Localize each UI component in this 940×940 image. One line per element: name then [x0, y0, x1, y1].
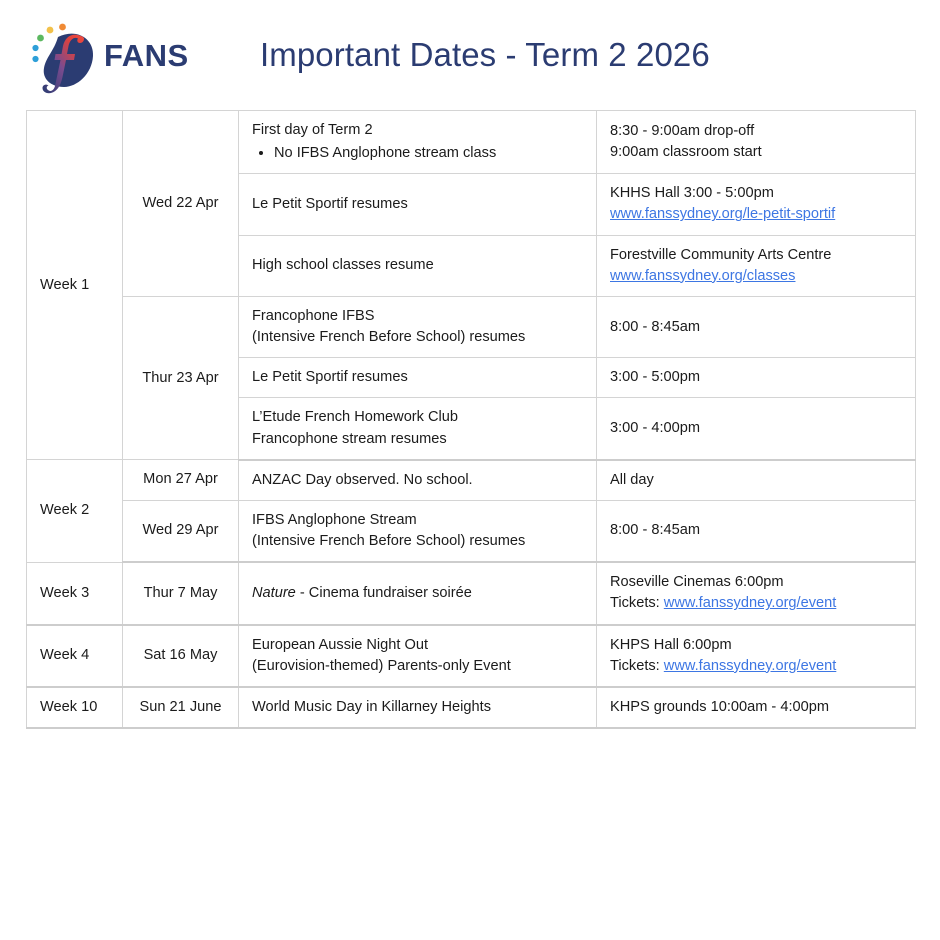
- details-text: All day: [610, 470, 902, 491]
- event-cell: IFBS Anglophone Stream(Intensive French …: [239, 500, 597, 562]
- event-bullet-list: No IFBS Anglophone stream class: [252, 143, 583, 164]
- event-cell: First day of Term 2No IFBS Anglophone st…: [239, 111, 597, 174]
- table-row: Week 1Wed 22 AprFirst day of Term 2No IF…: [27, 111, 916, 174]
- date-cell: Wed 22 Apr: [123, 111, 239, 297]
- brand-logo: FANS: [24, 16, 224, 94]
- details-text: 3:00 - 5:00pm: [610, 367, 902, 388]
- date-cell: Wed 29 Apr: [123, 500, 239, 562]
- details-link-line: Tickets: www.fanssydney.org/event: [610, 593, 902, 614]
- details-link[interactable]: www.fanssydney.org/event: [664, 658, 837, 674]
- event-text: ANZAC Day observed. No school.: [252, 470, 583, 491]
- table-row: Thur 23 AprFrancophone IFBS(Intensive Fr…: [27, 296, 916, 357]
- week-cell: Week 10: [27, 687, 123, 728]
- details-cell: KHPS Hall 6:00pmTickets: www.fanssydney.…: [597, 625, 916, 687]
- page-header: FANS Important Dates - Term 2 2026: [0, 0, 940, 110]
- important-dates-page: FANS Important Dates - Term 2 2026 Week …: [0, 0, 940, 940]
- week-cell: Week 4: [27, 625, 123, 687]
- event-text: Francophone IFBS: [252, 306, 583, 327]
- date-cell: Thur 23 Apr: [123, 296, 239, 459]
- week-label: Week 1: [40, 277, 89, 293]
- week-label: Week 4: [40, 647, 89, 663]
- event-text: - Cinema fundraiser soirée: [296, 585, 472, 601]
- details-cell: 3:00 - 5:00pm: [597, 358, 916, 398]
- date-label: Wed 22 Apr: [143, 195, 219, 211]
- details-link-prefix: Tickets:: [610, 658, 664, 674]
- fans-logo-icon: [24, 16, 102, 94]
- week-label: Week 2: [40, 502, 89, 518]
- event-text: (Intensive French Before School) resumes: [252, 327, 583, 348]
- event-text: (Intensive French Before School) resumes: [252, 531, 583, 552]
- table-row: Week 3Thur 7 MayNature - Cinema fundrais…: [27, 562, 916, 624]
- details-text: KHPS grounds 10:00am - 4:00pm: [610, 697, 902, 718]
- details-cell: KHHS Hall 3:00 - 5:00pmwww.fanssydney.or…: [597, 174, 916, 235]
- important-dates-table-wrap: Week 1Wed 22 AprFirst day of Term 2No IF…: [26, 110, 915, 729]
- event-cell: High school classes resume: [239, 235, 597, 296]
- date-label: Thur 23 Apr: [142, 370, 218, 386]
- details-text: 8:00 - 8:45am: [610, 317, 902, 338]
- week-cell: Week 1: [27, 111, 123, 460]
- event-cell: Francophone IFBS(Intensive French Before…: [239, 296, 597, 357]
- details-text: Forestville Community Arts Centre: [610, 245, 902, 266]
- details-text: KHHS Hall 3:00 - 5:00pm: [610, 183, 902, 204]
- details-cell: Roseville Cinemas 6:00pmTickets: www.fan…: [597, 562, 916, 624]
- details-link-line: www.fanssydney.org/classes: [610, 266, 902, 287]
- details-cell: All day: [597, 460, 916, 501]
- date-label: Sat 16 May: [144, 647, 218, 663]
- date-cell: Thur 7 May: [123, 562, 239, 624]
- event-cell: Le Petit Sportif resumes: [239, 358, 597, 398]
- details-link-line: Tickets: www.fanssydney.org/event: [610, 656, 902, 677]
- list-item: No IFBS Anglophone stream class: [274, 143, 583, 164]
- details-cell: 8:00 - 8:45am: [597, 296, 916, 357]
- details-link[interactable]: www.fanssydney.org/event: [664, 595, 837, 611]
- event-text: European Aussie Night Out: [252, 635, 583, 656]
- details-text: Roseville Cinemas 6:00pm: [610, 572, 902, 593]
- event-cell: Nature - Cinema fundraiser soirée: [239, 562, 597, 624]
- table-row: Wed 29 AprIFBS Anglophone Stream(Intensi…: [27, 500, 916, 562]
- brand-name: FANS: [104, 40, 189, 71]
- event-cell: ANZAC Day observed. No school.: [239, 460, 597, 501]
- important-dates-table: Week 1Wed 22 AprFirst day of Term 2No IF…: [26, 110, 916, 729]
- event-cell: L’Etude French Homework ClubFrancophone …: [239, 398, 597, 460]
- details-link[interactable]: www.fanssydney.org/classes: [610, 268, 795, 284]
- date-cell: Sun 21 June: [123, 687, 239, 728]
- details-cell: 8:00 - 8:45am: [597, 500, 916, 562]
- week-label: Week 3: [40, 585, 89, 601]
- event-cell: World Music Day in Killarney Heights: [239, 687, 597, 728]
- details-cell: 3:00 - 4:00pm: [597, 398, 916, 460]
- event-text: First day of Term 2: [252, 120, 583, 141]
- date-label: Thur 7 May: [144, 585, 218, 601]
- week-label: Week 10: [40, 699, 97, 715]
- details-cell: Forestville Community Arts Centrewww.fan…: [597, 235, 916, 296]
- event-title-italic: Nature: [252, 585, 296, 601]
- date-cell: Mon 27 Apr: [123, 460, 239, 501]
- event-text: Francophone stream resumes: [252, 429, 583, 450]
- page-title: Important Dates - Term 2 2026: [260, 36, 710, 74]
- date-label: Sun 21 June: [140, 699, 222, 715]
- week-cell: Week 2: [27, 460, 123, 562]
- details-text: 8:00 - 8:45am: [610, 520, 902, 541]
- details-text: 8:30 - 9:00am drop-off: [610, 121, 902, 142]
- event-text: L’Etude French Homework Club: [252, 407, 583, 428]
- details-text: KHPS Hall 6:00pm: [610, 635, 902, 656]
- details-link[interactable]: www.fanssydney.org/le-petit-sportif: [610, 206, 835, 222]
- event-text: Le Petit Sportif resumes: [252, 194, 583, 215]
- event-cell: European Aussie Night Out(Eurovision-the…: [239, 625, 597, 687]
- table-row: Week 10Sun 21 JuneWorld Music Day in Kil…: [27, 687, 916, 728]
- event-text: (Eurovision-themed) Parents-only Event: [252, 656, 583, 677]
- table-row: Week 2Mon 27 AprANZAC Day observed. No s…: [27, 460, 916, 501]
- event-text: World Music Day in Killarney Heights: [252, 697, 583, 718]
- event-text: IFBS Anglophone Stream: [252, 510, 583, 531]
- date-label: Mon 27 Apr: [143, 471, 218, 487]
- details-link-prefix: Tickets:: [610, 595, 664, 611]
- details-text: 3:00 - 4:00pm: [610, 418, 902, 439]
- table-row: Week 4Sat 16 MayEuropean Aussie Night Ou…: [27, 625, 916, 687]
- details-link-line: www.fanssydney.org/le-petit-sportif: [610, 204, 902, 225]
- date-cell: Sat 16 May: [123, 625, 239, 687]
- week-cell: Week 3: [27, 562, 123, 624]
- event-text: High school classes resume: [252, 255, 583, 276]
- event-text: Le Petit Sportif resumes: [252, 367, 583, 388]
- details-cell: KHPS grounds 10:00am - 4:00pm: [597, 687, 916, 728]
- details-cell: 8:30 - 9:00am drop-off9:00am classroom s…: [597, 111, 916, 174]
- details-text: 9:00am classroom start: [610, 142, 902, 163]
- date-label: Wed 29 Apr: [143, 522, 219, 538]
- event-cell: Le Petit Sportif resumes: [239, 174, 597, 235]
